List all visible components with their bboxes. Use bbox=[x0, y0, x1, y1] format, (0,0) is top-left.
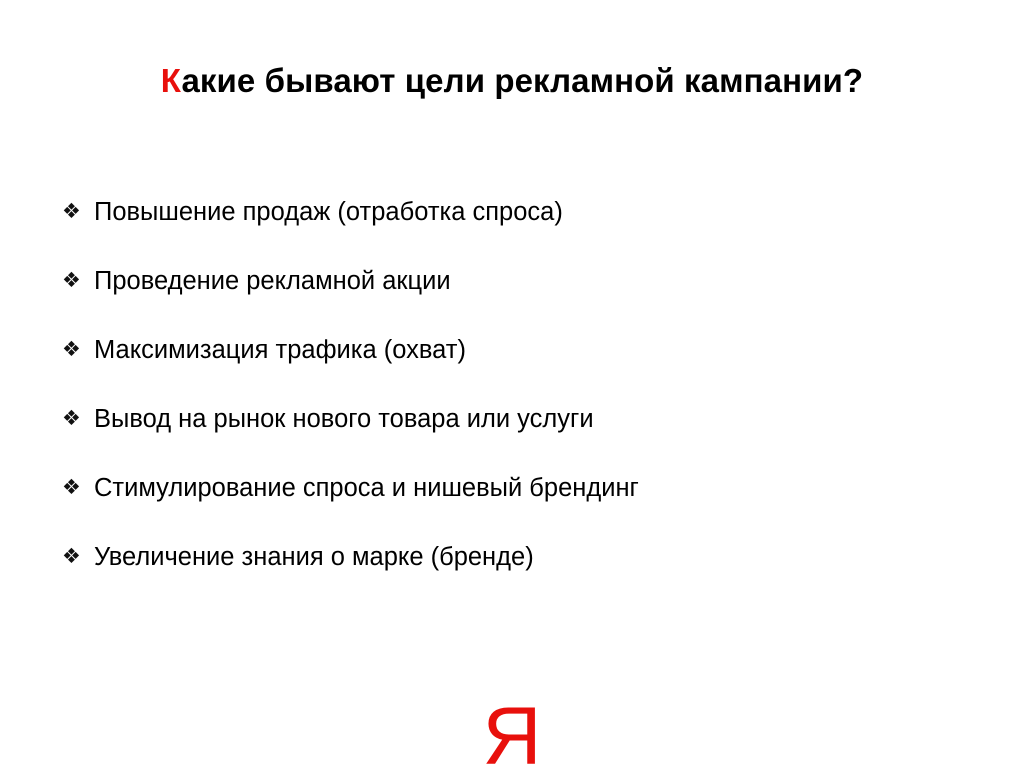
diamond-bullet-icon: ❖ bbox=[62, 468, 94, 508]
list-item: ❖ Максимизация трафика (охват) bbox=[62, 330, 962, 399]
list-item: ❖ Вывод на рынок нового товара или услуг… bbox=[62, 399, 962, 468]
list-item-label: Проведение рекламной акции bbox=[94, 261, 451, 301]
list-item: ❖ Повышение продаж (отработка спроса) bbox=[62, 192, 962, 261]
list-item-label: Повышение продаж (отработка спроса) bbox=[94, 192, 563, 232]
diamond-bullet-icon: ❖ bbox=[62, 261, 94, 301]
list-item-label: Максимизация трафика (охват) bbox=[94, 330, 466, 370]
list-item: ❖ Стимулирование спроса и нишевый бренди… bbox=[62, 468, 962, 537]
list-item: ❖ Увеличение знания о марке (бренде) bbox=[62, 537, 962, 606]
slide-title: Какие бывают цели рекламной кампании? bbox=[62, 60, 962, 101]
presentation-slide: Какие бывают цели рекламной кампании? ❖ … bbox=[0, 0, 1024, 768]
title-accent-letter: К bbox=[161, 62, 182, 99]
diamond-bullet-icon: ❖ bbox=[62, 399, 94, 439]
list-item-label: Вывод на рынок нового товара или услуги bbox=[94, 399, 594, 439]
title-rest: акие бывают цели рекламной кампании? bbox=[181, 62, 863, 99]
list-item: ❖ Проведение рекламной акции bbox=[62, 261, 962, 330]
list-item-label: Стимулирование спроса и нишевый брендинг bbox=[94, 468, 639, 508]
yandex-brand-logo: Я bbox=[0, 696, 1024, 778]
diamond-bullet-icon: ❖ bbox=[62, 192, 94, 232]
diamond-bullet-icon: ❖ bbox=[62, 330, 94, 370]
list-item-label: Увеличение знания о марке (бренде) bbox=[94, 537, 534, 577]
diamond-bullet-icon: ❖ bbox=[62, 537, 94, 577]
goals-bullet-list: ❖ Повышение продаж (отработка спроса) ❖ … bbox=[62, 192, 962, 606]
